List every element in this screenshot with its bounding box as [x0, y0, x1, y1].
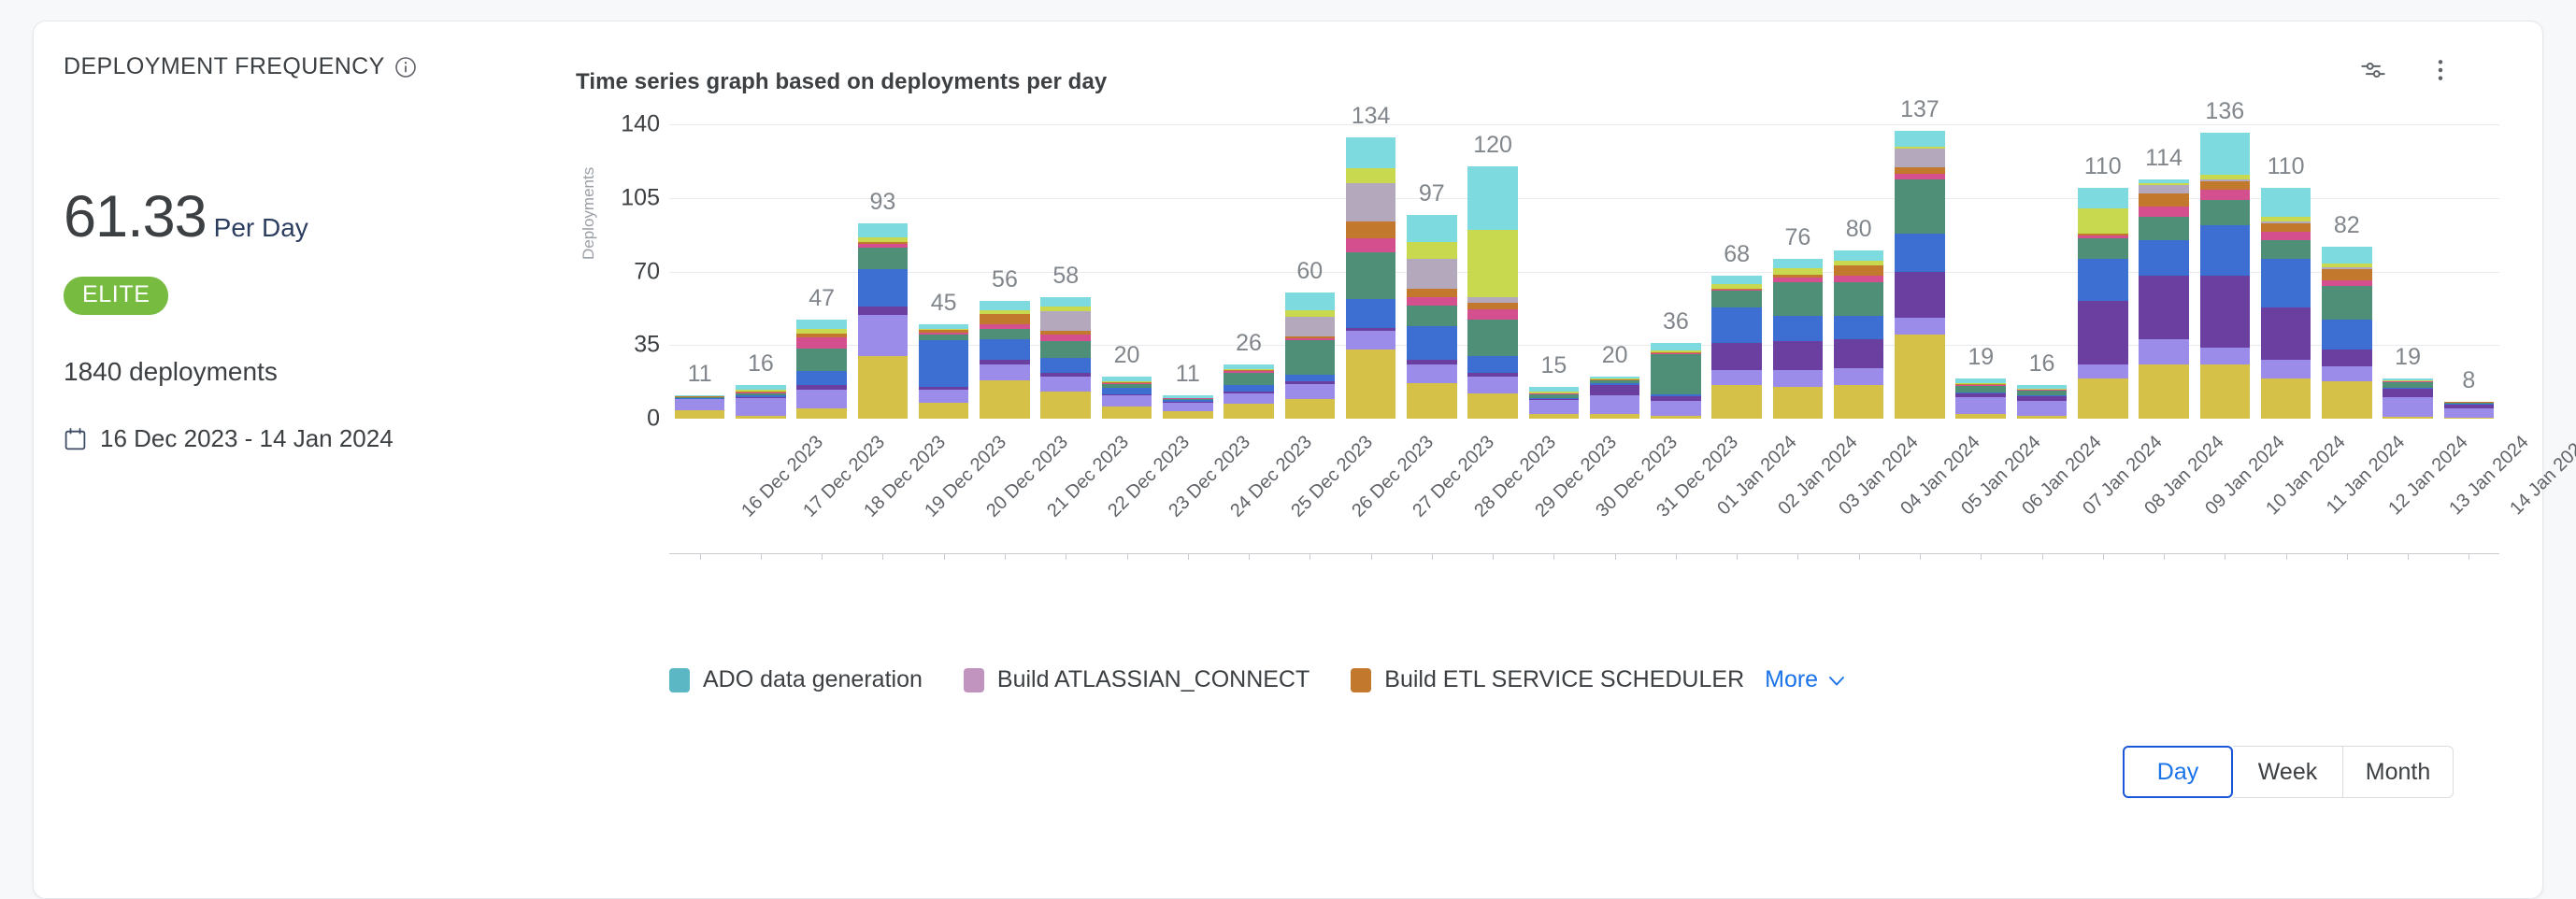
bar-segment [2261, 188, 2311, 218]
y-axis-tick: 70 [634, 258, 660, 285]
bar-segment [2139, 240, 2189, 276]
bar-value-label: 47 [809, 285, 835, 312]
bar-value-label: 26 [1236, 330, 1262, 357]
bar-group[interactable]: 136 [2195, 124, 2255, 419]
bar-value-label: 19 [2395, 344, 2421, 371]
bar-stack[interactable] [2444, 402, 2495, 419]
bar-group[interactable]: 11 [669, 124, 730, 419]
bar-value-label: 68 [1724, 241, 1750, 268]
bar-group[interactable]: 68 [1707, 124, 1767, 419]
bar-group[interactable]: 15 [1524, 124, 1584, 419]
settings-sliders-icon[interactable] [2360, 57, 2386, 83]
bar-segment [980, 339, 1030, 360]
chart-actions [2360, 57, 2454, 83]
x-axis-tick [2469, 554, 2469, 560]
y-axis-tick: 105 [621, 184, 660, 211]
bar-segment [1346, 331, 1396, 350]
x-axis-tick [1309, 554, 1310, 560]
x-axis-tick [2103, 554, 2104, 560]
bar-segment [1651, 343, 1701, 350]
bar-segment [919, 403, 969, 419]
bar-stack[interactable] [675, 395, 725, 419]
bar-group[interactable]: 134 [1340, 124, 1401, 419]
x-axis-tick [1859, 554, 1860, 560]
bar-stack[interactable] [2383, 378, 2433, 419]
bar-value-label: 114 [2145, 145, 2182, 172]
bar-segment [1895, 131, 1945, 147]
x-axis-tick [1005, 554, 1006, 560]
bar-segment [2322, 381, 2372, 420]
x-axis-tick [1920, 554, 1921, 560]
bar-segment [1285, 293, 1336, 310]
bar-segment [980, 329, 1030, 339]
bar-segment [1224, 373, 1274, 386]
legend-item[interactable]: Build ETL SERVICE SCHEDULER [1351, 666, 1744, 693]
bar-segment [980, 380, 1030, 419]
bar-segment [1773, 282, 1824, 316]
bar-segment [1711, 307, 1762, 343]
bar-segment [2078, 208, 2128, 234]
bar-segment [1467, 230, 1518, 297]
bar-segment [1895, 179, 1945, 235]
bar-stack[interactable] [1834, 250, 1884, 419]
bar-stack[interactable] [1773, 259, 1824, 419]
x-axis-tick [1981, 554, 1982, 560]
bar-segment [2017, 416, 2068, 419]
status-badge: ELITE [64, 277, 168, 315]
bar-segment [2078, 364, 2128, 379]
bar-segment [2322, 269, 2372, 279]
bar-segment [2322, 320, 2372, 350]
date-range-row[interactable]: 16 Dec 2023 - 14 Jan 2024 [64, 424, 576, 453]
bar-stack[interactable] [1467, 166, 1518, 419]
calendar-icon [64, 427, 87, 451]
bar-stack[interactable] [1529, 387, 1580, 419]
bar-segment [1407, 259, 1457, 289]
bar-value-label: 16 [748, 350, 774, 378]
bar-segment [1407, 297, 1457, 306]
bar-group[interactable]: 93 [852, 124, 913, 419]
legend-label: Build ETL SERVICE SCHEDULER [1384, 666, 1744, 693]
bar-value-label: 136 [2205, 98, 2244, 125]
legend-more-label: More [1765, 666, 1818, 693]
bar-segment [1711, 276, 1762, 284]
bar-segment [796, 337, 847, 348]
bar-group[interactable]: 16 [730, 124, 791, 419]
bar-segment [2322, 350, 2372, 366]
bar-segment [1040, 311, 1091, 330]
bar-segment [858, 269, 909, 307]
bar-group[interactable]: 16 [2011, 124, 2072, 419]
bar-segment [2261, 223, 2311, 232]
bar-segment [1407, 306, 1457, 327]
bar-segment [1467, 377, 1518, 393]
bar-segment [1102, 407, 1152, 420]
bar-value-label: 45 [931, 290, 957, 317]
bar-value-label: 110 [2268, 153, 2305, 180]
bar-segment [2322, 366, 2372, 381]
bar-segment [2383, 397, 2433, 416]
bar-group[interactable]: 120 [1462, 124, 1523, 419]
bar-segment [2383, 389, 2433, 397]
bar-segment [1407, 215, 1457, 242]
bar-segment [1040, 358, 1091, 373]
bar-segment [796, 349, 847, 372]
bar-segment [1834, 282, 1884, 316]
chevron-down-icon [1825, 669, 1848, 692]
bar-segment [2200, 225, 2251, 276]
bar-stack[interactable] [1285, 293, 1336, 419]
bar-segment [1711, 370, 1762, 385]
x-axis-tick [2286, 554, 2287, 560]
bar-segment [1285, 384, 1336, 399]
bar-segment [1773, 341, 1824, 371]
bar-stack[interactable] [980, 301, 1030, 419]
bar-group[interactable]: 20 [1096, 124, 1157, 419]
bar-segment [1040, 335, 1091, 341]
bar-segment [1467, 393, 1518, 419]
bar-segment [919, 390, 969, 403]
bar-stack[interactable] [1163, 395, 1213, 419]
bar-segment [2078, 259, 2128, 301]
bar-segment [1590, 414, 1640, 419]
bar-segment [2139, 217, 2189, 240]
bar-segment [1407, 242, 1457, 259]
bar-stack[interactable] [1955, 378, 2006, 419]
bar-segment [2383, 417, 2433, 419]
bar-segment [1895, 149, 1945, 167]
bar-stack[interactable] [1407, 215, 1457, 419]
bar-stack[interactable] [919, 324, 969, 419]
x-axis-tick [2042, 554, 2043, 560]
bar-segment [1285, 310, 1336, 317]
bar-value-label: 60 [1296, 258, 1323, 285]
bar-segment [2200, 190, 2251, 200]
bar-value-label: 36 [1663, 308, 1689, 335]
bar-segment [2078, 238, 2128, 260]
x-axis-tick [1188, 554, 1189, 560]
bar-segment [1407, 383, 1457, 419]
bar-segment [2139, 339, 2189, 364]
bar-segment [1955, 386, 2006, 392]
bar-stack[interactable] [1102, 377, 1152, 419]
bar-segment [675, 410, 725, 419]
bar-segment [1834, 368, 1884, 385]
bar-segment [1407, 289, 1457, 297]
bar-value-label: 58 [1052, 263, 1079, 290]
bar-segment [796, 390, 847, 408]
bar-segment [1163, 403, 1213, 411]
bar-segment [1346, 137, 1396, 169]
bar-segment [796, 408, 847, 419]
range-button-week[interactable]: Week [2233, 746, 2343, 798]
bar-value-label: 8 [2462, 367, 2475, 394]
bar-segment [2261, 259, 2311, 307]
bar-segment [1040, 341, 1091, 358]
deployments-count: 1840 deployments [64, 357, 576, 387]
bar-segment [858, 307, 909, 315]
bar-segment [796, 320, 847, 329]
bar-stack[interactable] [2017, 385, 2068, 419]
bar-segment [1711, 291, 1762, 307]
bar-value-label: 76 [1785, 224, 1811, 251]
y-axis-tick: 35 [634, 332, 660, 359]
info-icon[interactable] [394, 56, 417, 78]
bar-group[interactable]: 26 [1218, 124, 1279, 419]
bar-segment [1955, 414, 2006, 419]
bar-stack[interactable] [2261, 188, 2311, 420]
bar-stack[interactable] [2078, 188, 2128, 420]
bar-stack[interactable] [796, 320, 847, 419]
bar-segment [2200, 364, 2251, 420]
bar-segment [1467, 320, 1518, 355]
bar-segment [1834, 316, 1884, 339]
bar-group[interactable]: 80 [1828, 124, 1889, 419]
y-axis-tick: 140 [621, 111, 660, 138]
bar-segment [1102, 388, 1152, 394]
bar-segment [736, 398, 786, 416]
bar-segment [1040, 297, 1091, 307]
bar-segment [2322, 286, 2372, 320]
bar-segment [1834, 385, 1884, 419]
bar-segment [1285, 340, 1336, 375]
x-axis-tick [1737, 554, 1738, 560]
bar-segment [2261, 378, 2311, 419]
bar-segment [858, 248, 909, 268]
bar-segment [2200, 348, 2251, 364]
bar-group[interactable]: 19 [2377, 124, 2438, 419]
bar-segment [1773, 387, 1824, 419]
bar-stack[interactable] [1711, 276, 1762, 419]
bar-segment [2322, 280, 2372, 287]
y-axis-tick: 0 [647, 406, 660, 433]
x-axis-tick [1127, 554, 1128, 560]
bar-group[interactable]: 97 [1401, 124, 1462, 419]
page-title: DEPLOYMENT FREQUENCY [64, 53, 385, 80]
metric-value: 61.33 [64, 183, 207, 250]
x-axis-tick [1615, 554, 1616, 560]
bar-segment [1711, 385, 1762, 419]
bar-group[interactable]: 11 [1157, 124, 1218, 419]
bar-segment [1895, 318, 1945, 335]
bar-value-label: 20 [1114, 342, 1140, 369]
x-axis-tick [944, 554, 945, 560]
bar-value-label: 137 [1900, 96, 1939, 123]
bar-segment [2078, 378, 2128, 419]
bar-segment [2200, 181, 2251, 190]
bar-segment [2139, 193, 2189, 207]
x-axis-tick [2164, 554, 2165, 560]
more-vertical-icon[interactable] [2427, 57, 2454, 83]
metric-value-row: 61.33 Per Day [64, 183, 576, 250]
date-range-text: 16 Dec 2023 - 14 Jan 2024 [100, 424, 394, 453]
x-axis-tick [1676, 554, 1677, 560]
legend-swatch [964, 668, 984, 692]
bar-segment [1407, 326, 1457, 360]
metric-unit: Per Day [214, 213, 308, 243]
bar-segment [1467, 356, 1518, 373]
bar-segment [1590, 395, 1640, 414]
bar-group[interactable]: 110 [2255, 124, 2316, 419]
bar-value-label: 15 [1540, 352, 1567, 379]
bar-group[interactable]: 20 [1584, 124, 1645, 419]
bar-segment [980, 364, 1030, 379]
bar-stack[interactable] [2322, 247, 2372, 420]
bar-stack[interactable] [1040, 297, 1091, 420]
bar-stack[interactable] [1224, 364, 1274, 420]
bars-container: 1116 Dec 20231617 Dec 20234718 Dec 20239… [669, 124, 2499, 554]
bar-segment [1285, 375, 1336, 381]
bar-group[interactable]: 36 [1645, 124, 1706, 419]
x-axis-tick [2225, 554, 2225, 560]
bar-segment [2078, 301, 2128, 364]
bar-segment [2261, 360, 2311, 378]
bar-segment [1040, 377, 1091, 392]
bar-segment [980, 314, 1030, 324]
bar-segment [1955, 397, 2006, 414]
bar-stack[interactable] [858, 223, 909, 419]
bar-group[interactable]: 47 [792, 124, 852, 419]
legend-label: Build ATLASSIAN_CONNECT [997, 666, 1309, 693]
bar-segment [2139, 364, 2189, 420]
bar-segment [1285, 399, 1336, 419]
bar-group[interactable]: 110 [2072, 124, 2133, 419]
bar-segment [1346, 183, 1396, 221]
bar-segment [2139, 276, 2189, 339]
x-axis-tick [700, 554, 701, 560]
bar-segment [858, 223, 909, 238]
bar-segment [1773, 370, 1824, 387]
bar-stack[interactable] [1895, 131, 1945, 419]
bar-segment [2017, 401, 2068, 416]
bar-segment [675, 399, 725, 410]
bar-value-label: 82 [2334, 212, 2360, 239]
bar-group[interactable]: 114 [2133, 124, 2194, 419]
legend-more-button[interactable]: More [1765, 666, 1848, 693]
bar-group[interactable]: 76 [1767, 124, 1828, 419]
chart-legend: ADO data generationBuild ATLASSIAN_CONNE… [669, 666, 1848, 693]
bar-value-label: 16 [2029, 350, 2055, 378]
bar-group[interactable]: 58 [1036, 124, 1096, 419]
bar-segment [1773, 268, 1824, 275]
bar-stack[interactable] [1590, 377, 1640, 419]
bar-value-label: 19 [1968, 344, 1994, 371]
x-axis-tick [1797, 554, 1798, 560]
deployment-frequency-card: DEPLOYMENT FREQUENCY 61.33 Per Day ELITE… [33, 21, 2543, 899]
bar-segment [1834, 250, 1884, 261]
bar-segment [1651, 416, 1701, 419]
bar-stack[interactable] [2200, 133, 2251, 419]
x-axis-tick [1249, 554, 1250, 560]
bar-value-label: 11 [688, 361, 712, 388]
bar-segment [1529, 414, 1580, 419]
bar-stack[interactable] [736, 385, 786, 419]
legend-item[interactable]: ADO data generation [669, 666, 923, 693]
x-axis-tick [822, 554, 823, 560]
y-axis-ticks: 03570105140 [596, 124, 660, 554]
bar-segment [1895, 272, 1945, 319]
bar-segment [1711, 343, 1762, 370]
bar-segment [919, 340, 969, 387]
bar-segment [1651, 354, 1701, 394]
bar-segment [1346, 168, 1396, 183]
bar-value-label: 120 [1473, 132, 1512, 159]
bar-segment [1102, 395, 1152, 406]
x-axis-tick [1493, 554, 1494, 560]
legend-label: ADO data generation [703, 666, 923, 693]
bar-segment [1346, 221, 1396, 238]
bar-value-label: 11 [1176, 361, 1200, 388]
bar-segment [1467, 297, 1518, 304]
bar-value-label: 93 [870, 189, 896, 216]
bar-segment [1590, 385, 1640, 395]
bar-segment [1834, 265, 1884, 276]
bar-group[interactable]: 82 [2316, 124, 2377, 419]
bar-segment [1285, 317, 1336, 336]
bar-segment [2200, 133, 2251, 175]
bar-stack[interactable] [2139, 179, 2189, 420]
bar-segment [1467, 166, 1518, 230]
bar-value-label: 97 [1419, 180, 1445, 207]
bar-segment [1651, 401, 1701, 416]
bar-segment [2139, 207, 2189, 217]
bar-segment [1040, 392, 1091, 419]
bar-group[interactable]: 56 [974, 124, 1035, 419]
bar-segment [1346, 350, 1396, 419]
bar-segment [2261, 240, 2311, 259]
metric-title-row: DEPLOYMENT FREQUENCY [64, 53, 576, 80]
chart-title: Time series graph based on deployments p… [576, 69, 1107, 95]
bar-group[interactable]: 45 [913, 124, 974, 419]
bar-segment [2261, 307, 2311, 360]
bar-segment [1895, 234, 1945, 272]
bar-segment [1224, 385, 1274, 392]
bar-segment [858, 356, 909, 419]
bar-segment [1773, 316, 1824, 341]
bar-segment [1346, 238, 1396, 253]
range-button-month[interactable]: Month [2343, 746, 2454, 798]
legend-swatch [1351, 668, 1371, 692]
metric-summary-panel: DEPLOYMENT FREQUENCY 61.33 Per Day ELITE… [34, 21, 576, 898]
bar-value-label: 80 [1846, 216, 1872, 243]
bar-group[interactable]: 60 [1280, 124, 1340, 419]
bar-segment [1224, 393, 1274, 404]
legend-item[interactable]: Build ATLASSIAN_CONNECT [964, 666, 1309, 693]
x-axis-tick [1432, 554, 1433, 560]
bar-stack[interactable] [1346, 137, 1396, 420]
bar-stack[interactable] [1651, 343, 1701, 419]
bar-segment [1467, 303, 1518, 309]
bar-segment [1163, 411, 1213, 419]
bar-segment [1467, 309, 1518, 320]
bar-group[interactable]: 137 [1889, 124, 1950, 419]
range-button-day[interactable]: Day [2123, 746, 2233, 798]
bar-segment [796, 371, 847, 385]
bar-segment [2444, 408, 2495, 418]
bar-segment [1224, 404, 1274, 419]
bar-segment [2139, 185, 2189, 193]
x-axis-tick [1371, 554, 1372, 560]
y-axis-label: Deployments [580, 167, 598, 260]
x-axis-tick [2408, 554, 2409, 560]
bar-segment [1834, 339, 1884, 369]
bar-segment [1773, 259, 1824, 268]
bar-group[interactable]: 19 [1951, 124, 2011, 419]
bar-segment [858, 315, 909, 357]
chart-panel: Time series graph based on deployments p… [576, 21, 2542, 898]
bar-segment [1895, 335, 1945, 419]
bar-group[interactable]: 8 [2439, 124, 2499, 419]
